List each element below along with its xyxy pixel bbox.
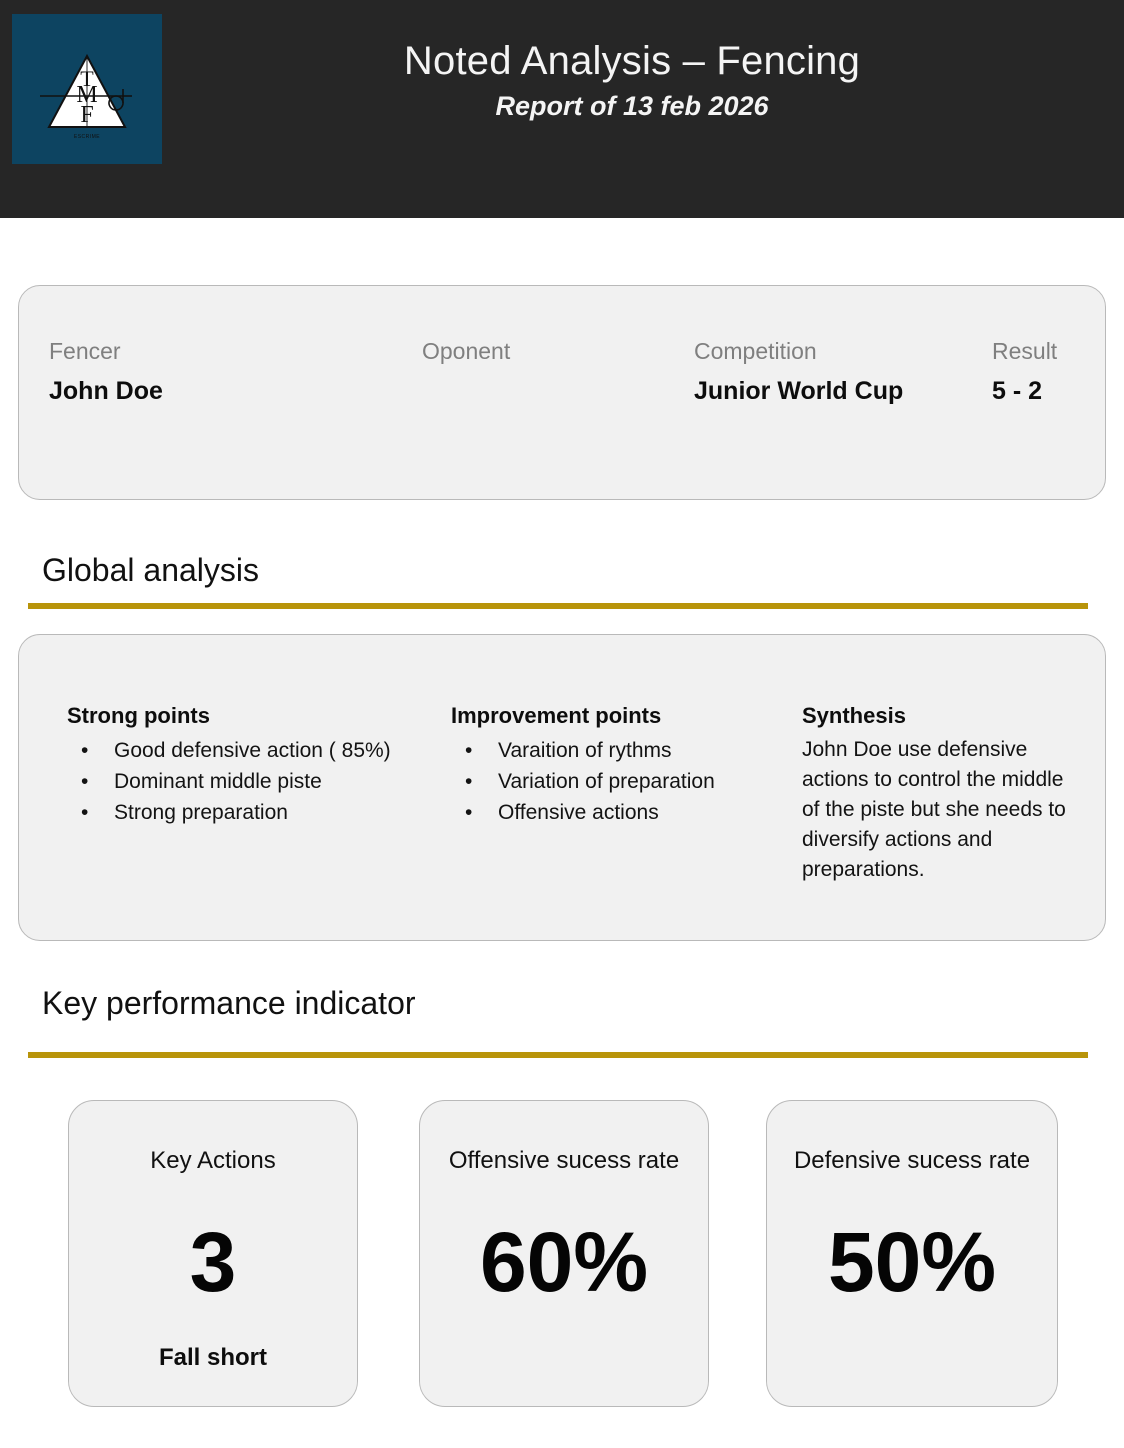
page-subtitle: Report of 13 feb 2026	[140, 88, 1124, 124]
result-value: 5 - 2	[992, 374, 1057, 408]
list-item: • Good defensive action ( 85%)	[67, 735, 447, 766]
oponent-label: Oponent	[422, 336, 510, 366]
kpi-label: Key Actions	[150, 1145, 275, 1177]
bullet-icon: •	[465, 735, 472, 766]
improvement-points-title: Improvement points	[451, 701, 801, 731]
list-item: • Variation of preparation	[451, 766, 801, 797]
kpi-label: Defensive sucess rate	[794, 1145, 1030, 1177]
kpi-card-key-actions: Key Actions 3 Fall short	[68, 1100, 358, 1407]
competition-label: Competition	[694, 336, 903, 366]
match-info-card: Fencer John Doe Oponent Competition Juni…	[18, 285, 1106, 500]
match-field-competition: Competition Junior World Cup	[694, 336, 903, 408]
strong-points-column: Strong points • Good defensive action ( …	[67, 701, 447, 828]
kpi-card-defensive-sucess-rate: Defensive sucess rate 50%	[766, 1100, 1058, 1407]
strong-points-list: • Good defensive action ( 85%) • Dominan…	[67, 735, 447, 828]
improvement-points-list: • Varaition of rythms • Variation of pre…	[451, 735, 801, 828]
list-item-label: Varaition of rythms	[498, 739, 672, 762]
synthesis-text: John Doe use defensive actions to contro…	[802, 735, 1077, 885]
bullet-icon: •	[465, 797, 472, 828]
section-divider-global-analysis	[28, 603, 1088, 609]
fencer-label: Fencer	[49, 336, 163, 366]
list-item-label: Good defensive action ( 85%)	[114, 739, 391, 762]
synthesis-title: Synthesis	[802, 701, 1077, 731]
competition-value: Junior World Cup	[694, 374, 903, 408]
list-item-label: Offensive actions	[498, 801, 659, 824]
list-item-label: Strong preparation	[114, 801, 288, 824]
kpi-value: 60%	[480, 1217, 648, 1307]
list-item: • Offensive actions	[451, 797, 801, 828]
result-label: Result	[992, 336, 1057, 366]
global-analysis-card: Strong points • Good defensive action ( …	[18, 634, 1106, 941]
match-field-result: Result 5 - 2	[992, 336, 1057, 408]
synthesis-column: Synthesis John Doe use defensive actions…	[802, 701, 1077, 885]
page-title: Noted Analysis – Fencing	[140, 36, 1124, 86]
oponent-value	[422, 374, 510, 408]
list-item-label: Dominant middle piste	[114, 770, 322, 793]
kpi-footer: Fall short	[69, 1342, 357, 1374]
improvement-points-column: Improvement points • Varaition of rythms…	[451, 701, 801, 828]
section-divider-key-performance-indicator	[28, 1052, 1088, 1058]
fencer-value: John Doe	[49, 374, 163, 408]
list-item: • Strong preparation	[67, 797, 447, 828]
page-header: T M F ESCRIME Noted Analysis – Fencing R…	[0, 0, 1124, 218]
kpi-card-row: Key Actions 3 Fall short Offensive suces…	[0, 1100, 1124, 1410]
list-item-label: Variation of preparation	[498, 770, 715, 793]
match-field-oponent: Oponent	[422, 336, 510, 408]
bullet-icon: •	[81, 735, 88, 766]
section-heading-global-analysis: Global analysis	[42, 549, 259, 591]
kpi-value: 50%	[828, 1217, 996, 1307]
list-item: • Dominant middle piste	[67, 766, 447, 797]
bullet-icon: •	[465, 766, 472, 797]
list-item: • Varaition of rythms	[451, 735, 801, 766]
match-field-fencer: Fencer John Doe	[49, 336, 163, 408]
bullet-icon: •	[81, 766, 88, 797]
kpi-label: Offensive sucess rate	[449, 1145, 679, 1177]
strong-points-title: Strong points	[67, 701, 447, 731]
section-heading-key-performance-indicator: Key performance indicator	[42, 982, 416, 1024]
header-title-block: Noted Analysis – Fencing Report of 13 fe…	[0, 36, 1124, 124]
kpi-card-offensive-sucess-rate: Offensive sucess rate 60%	[419, 1100, 709, 1407]
svg-text:ESCRIME: ESCRIME	[74, 134, 100, 140]
kpi-value: 3	[190, 1217, 237, 1307]
bullet-icon: •	[81, 797, 88, 828]
